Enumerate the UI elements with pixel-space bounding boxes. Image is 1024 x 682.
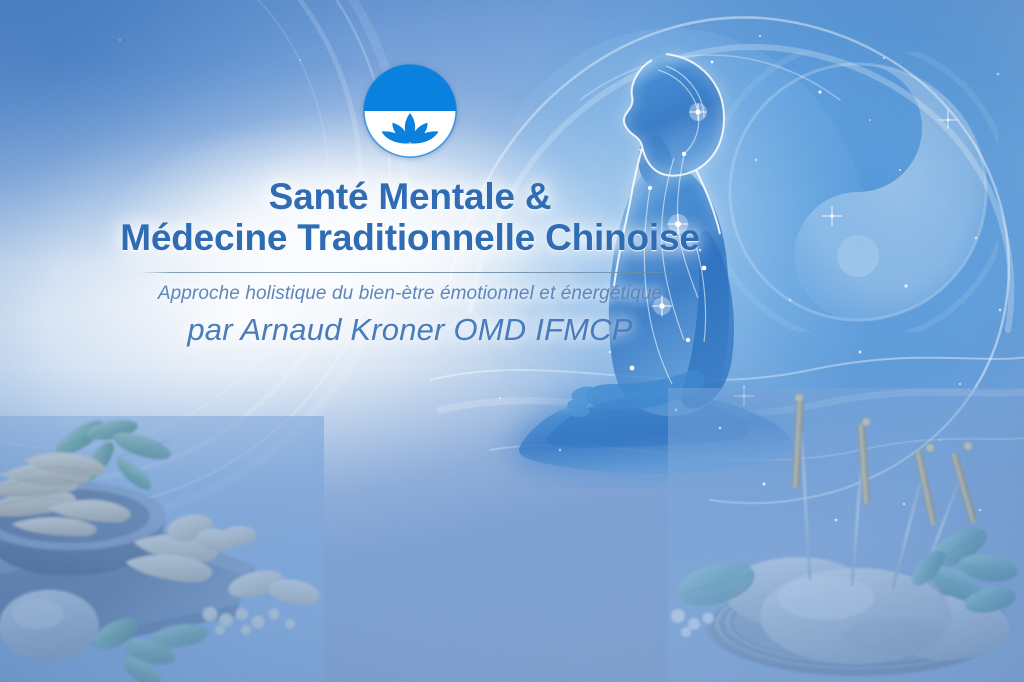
banner-content: Santé Mentale & Médecine Traditionnelle … <box>0 0 820 348</box>
title-divider <box>139 272 681 273</box>
title-line-2: Médecine Traditionnelle Chinoise <box>0 217 820 258</box>
title-line-1: Santé Mentale & <box>0 176 820 217</box>
acupuncture-needles-still-life <box>668 388 1024 682</box>
lotus-circle-logo <box>361 62 459 160</box>
logo-container <box>0 62 820 160</box>
ginseng-herbs-still-life <box>0 416 324 682</box>
subtitle: Approche holistique du bien-ètre émotion… <box>0 283 820 305</box>
tcm-mental-health-banner: Santé Mentale & Médecine Traditionnelle … <box>0 0 1024 682</box>
page-title: Santé Mentale & Médecine Traditionnelle … <box>0 176 820 259</box>
author-line: par Arnaud Kroner OMD IFMCP <box>0 312 820 348</box>
